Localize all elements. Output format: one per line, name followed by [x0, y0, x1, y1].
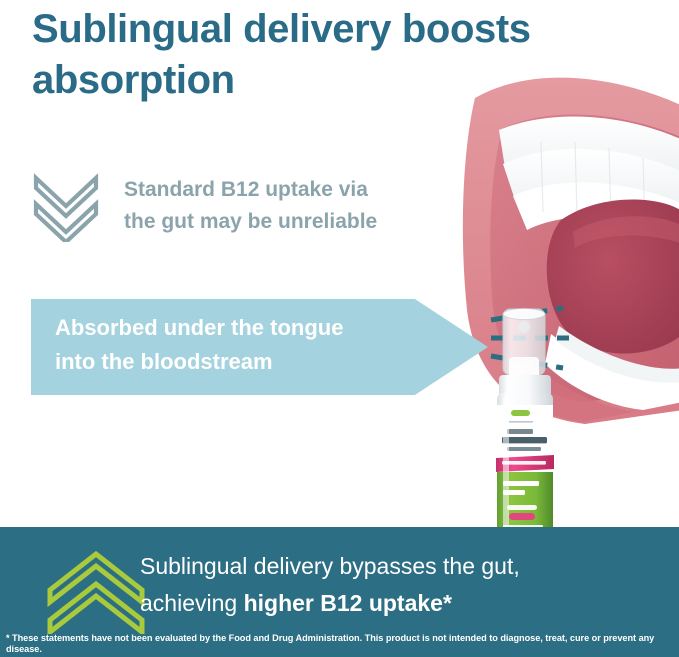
bottom-summary-line2-prefix: achieving — [140, 590, 244, 616]
standard-uptake-text: Standard B12 uptake via the gut may be u… — [124, 174, 454, 238]
standard-uptake-point: Standard B12 uptake via the gut may be u… — [30, 168, 450, 248]
absorbed-banner-text: Absorbed under the tongue into the blood… — [55, 311, 455, 379]
bottom-summary-band: Sublingual delivery bypasses the gut, ac… — [0, 527, 679, 657]
double-chevron-up-icon — [44, 550, 148, 634]
bottom-summary-line2-bold: higher B12 uptake* — [244, 590, 452, 616]
product-bottle — [487, 305, 573, 553]
absorbed-banner: Absorbed under the tongue into the blood… — [31, 299, 488, 395]
fda-disclaimer: * These statements have not been evaluat… — [6, 633, 678, 655]
bottom-summary-text: Sublingual delivery bypasses the gut, ac… — [140, 548, 660, 623]
bottle-nozzle-cap — [503, 309, 545, 380]
double-chevron-down-icon — [30, 170, 102, 242]
infographic-canvas: Sublingual delivery boosts absorption — [0, 0, 679, 657]
bottom-summary-line1: Sublingual delivery bypasses the gut, — [140, 553, 520, 579]
